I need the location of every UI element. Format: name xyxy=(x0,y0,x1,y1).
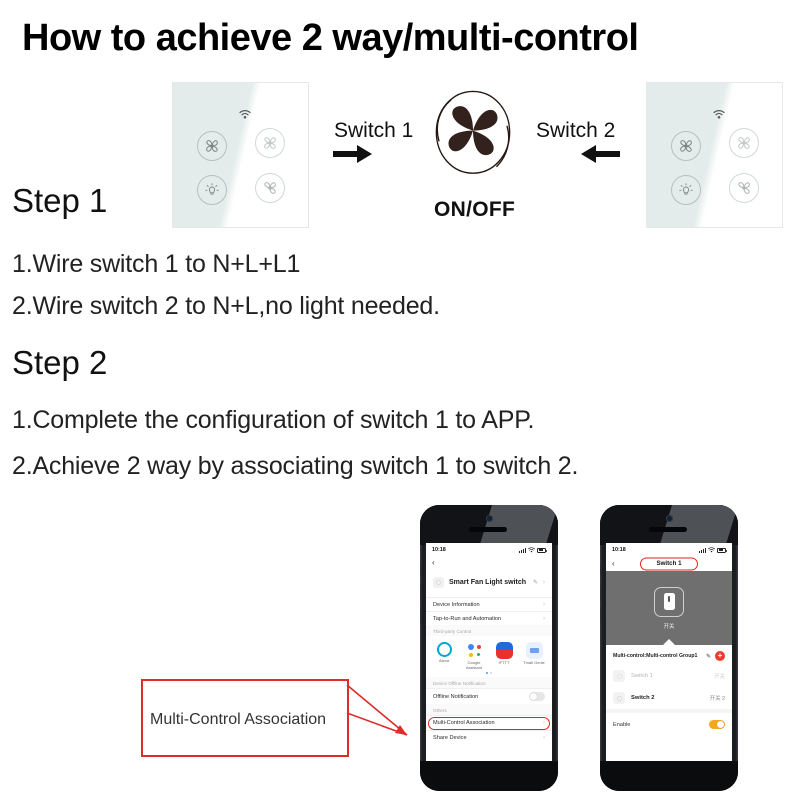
switch-glyph-icon xyxy=(435,579,442,586)
panel-glass-sheen xyxy=(647,83,782,227)
phone-top-bezel xyxy=(420,505,558,545)
instruction-graphic: How to achieve 2 way/multi-control xyxy=(0,0,800,800)
third-party-label: Google Assistant xyxy=(462,661,486,670)
step1-heading: Step 1 xyxy=(12,182,107,220)
panel-notch xyxy=(662,639,676,646)
step1-line-2: 2.Wire switch 2 to N+L,no light needed. xyxy=(12,292,440,321)
device-thumbnail-icon xyxy=(613,692,625,704)
ifttt-icon xyxy=(496,642,513,659)
multi-control-header: Multi-control:Multi-control Group1 ✎ + xyxy=(606,645,732,665)
red-highlight-oval xyxy=(640,557,698,570)
row-value: 开关 xyxy=(714,672,725,680)
panel-button-light[interactable] xyxy=(671,175,701,205)
device-caption: 开关 xyxy=(664,622,675,630)
tmall-genie-icon xyxy=(526,642,543,659)
third-party-alexa[interactable]: Alexa xyxy=(432,642,456,670)
enable-row[interactable]: Enable xyxy=(606,709,732,736)
device-switch-icon[interactable] xyxy=(654,587,684,617)
offline-notification-toggle[interactable] xyxy=(529,692,545,701)
row-label: Offline Notification xyxy=(433,694,529,700)
arrow-right-icon xyxy=(333,143,373,165)
fan-icon xyxy=(260,178,280,198)
phone-mockup-1: 10:18 ‹ xyxy=(420,505,558,791)
phone-bottom-bezel xyxy=(600,761,738,791)
row-tap-to-run[interactable]: Tap-to-Run and Automation › xyxy=(426,611,552,625)
volume-down-button[interactable] xyxy=(420,607,421,623)
switch-glyph-icon xyxy=(616,673,623,680)
pencil-icon[interactable]: ✎ xyxy=(706,653,711,660)
wifi-icon xyxy=(528,547,535,553)
fan-icon xyxy=(260,133,280,153)
wall-switch-panel-left xyxy=(172,82,309,228)
mute-button[interactable] xyxy=(600,565,601,575)
device-name: Smart Fan Light switch xyxy=(449,579,528,586)
row-multi-control-association[interactable]: Multi-Control Association › xyxy=(426,715,552,730)
fan-icon xyxy=(676,136,696,156)
row-label: Tap-to-Run and Automation xyxy=(433,616,543,622)
third-party-label: Alexa xyxy=(432,659,456,664)
phone2-screen: 10:18 ‹ Switch 1 xyxy=(606,543,732,761)
phone-bottom-bezel xyxy=(420,761,558,791)
wifi-icon xyxy=(713,110,725,119)
page-title: How to achieve 2 way/multi-control xyxy=(22,17,638,60)
row-offline-notification[interactable]: Offline Notification xyxy=(426,688,552,704)
bulb-icon xyxy=(677,181,695,199)
switch1-label: Switch 1 xyxy=(334,119,413,143)
others-header: Others xyxy=(426,704,552,715)
wifi-icon xyxy=(708,547,715,553)
panel-button-fan-3[interactable] xyxy=(729,173,759,203)
switch-glyph-icon xyxy=(616,695,623,702)
row-label: Multi-Control Association xyxy=(433,720,543,726)
pencil-icon[interactable]: ✎ xyxy=(533,579,538,586)
page-dot xyxy=(490,672,492,674)
battery-icon xyxy=(537,548,546,553)
status-icons xyxy=(519,547,546,553)
battery-icon xyxy=(717,548,726,553)
status-time: 10:18 xyxy=(432,547,446,553)
row-name: Switch 1 xyxy=(631,673,714,679)
panel-button-light[interactable] xyxy=(197,175,227,205)
row-share-device[interactable]: Share Device › xyxy=(426,730,552,744)
step2-line-1: 1.Complete the configuration of switch 1… xyxy=(12,406,534,435)
speaker-grille xyxy=(469,527,507,532)
enable-label: Enable xyxy=(613,722,709,728)
device-thumbnail-icon xyxy=(613,670,625,682)
plus-icon[interactable]: + xyxy=(715,651,725,661)
multi-control-row-switch1[interactable]: Switch 1 开关 xyxy=(606,665,732,687)
callout-label: Multi-Control Association xyxy=(150,711,326,729)
camera-icon xyxy=(666,515,673,522)
offline-header: Device Offline Notification xyxy=(426,677,552,688)
wifi-icon xyxy=(239,110,251,119)
row-device-information[interactable]: Device Information › xyxy=(426,597,552,611)
step1-line-1: 1.Wire switch 1 to N+L+L1 xyxy=(12,250,300,279)
third-party-grid: Alexa Google Assistant IFTTT xyxy=(426,636,552,672)
camera-icon xyxy=(486,515,493,522)
step2-heading: Step 2 xyxy=(12,344,107,382)
google-assistant-icon xyxy=(466,642,483,659)
third-party-label: Tmall Genie xyxy=(522,661,546,666)
third-party-google-assistant[interactable]: Google Assistant xyxy=(462,642,486,670)
fan-icon xyxy=(734,178,754,198)
status-bar: 10:18 xyxy=(606,543,732,556)
enable-toggle[interactable] xyxy=(709,720,725,729)
nav-bar: ‹ Switch 1 xyxy=(606,556,732,571)
panel-button-fan-2[interactable] xyxy=(729,128,759,158)
volume-up-button[interactable] xyxy=(420,585,421,601)
fan-icon xyxy=(202,136,222,156)
panel-glass-sheen xyxy=(173,83,308,227)
device-preview-panel: 开关 xyxy=(606,571,732,645)
chevron-right-icon: › xyxy=(543,602,545,608)
device-header-row[interactable]: Smart Fan Light switch ✎ › xyxy=(426,569,552,597)
mute-button[interactable] xyxy=(420,565,421,575)
multi-control-row-switch2[interactable]: Switch 2 开关 2 xyxy=(606,687,732,709)
panel-button-fan-1[interactable] xyxy=(671,131,701,161)
onoff-label: ON/OFF xyxy=(434,198,515,222)
callout-arrow-icon xyxy=(345,683,413,743)
chevron-right-icon: › xyxy=(543,616,545,622)
row-value: 开关 2 xyxy=(710,694,725,702)
chevron-left-icon[interactable]: ‹ xyxy=(432,559,435,567)
phone-top-bezel xyxy=(600,505,738,545)
panel-button-fan-2[interactable] xyxy=(255,128,285,158)
chevron-right-icon: › xyxy=(543,735,545,741)
switch-face xyxy=(664,593,675,610)
panel-button-fan-3[interactable] xyxy=(255,173,285,203)
device-thumbnail-icon xyxy=(433,577,444,588)
switch2-label: Switch 2 xyxy=(536,119,615,143)
volume-up-button[interactable] xyxy=(600,585,601,601)
status-time: 10:18 xyxy=(612,547,626,553)
panel-button-fan-1[interactable] xyxy=(197,131,227,161)
third-party-ifttt[interactable]: IFTTT xyxy=(492,642,516,670)
alexa-icon xyxy=(437,642,452,657)
signal-bars-icon xyxy=(699,548,706,553)
volume-down-button[interactable] xyxy=(600,607,601,623)
status-bar: 10:18 xyxy=(426,543,552,556)
row-label: Device Information xyxy=(433,602,543,608)
phone1-screen: 10:18 ‹ xyxy=(426,543,552,761)
nav-bar: ‹ xyxy=(426,556,552,569)
third-party-tmall-genie[interactable]: Tmall Genie xyxy=(522,642,546,670)
third-party-header: Third-party Control xyxy=(426,625,552,636)
signal-bars-icon xyxy=(519,548,526,553)
phone-mockup-2: 10:18 ‹ Switch 1 xyxy=(600,505,738,791)
bulb-icon xyxy=(203,181,221,199)
fan-logo-icon xyxy=(430,88,516,180)
wall-switch-panel-right xyxy=(646,82,783,228)
chevron-right-icon: › xyxy=(543,580,545,586)
speaker-grille xyxy=(649,527,687,532)
step2-line-2: 2.Achieve 2 way by associating switch 1 … xyxy=(12,452,578,481)
arrow-left-icon xyxy=(580,143,620,165)
chevron-right-icon: › xyxy=(543,720,545,726)
status-icons xyxy=(699,547,726,553)
multi-control-title: Multi-control:Multi-control Group1 xyxy=(613,653,706,659)
row-name: Switch 2 xyxy=(631,695,710,701)
fan-icon xyxy=(734,133,754,153)
third-party-label: IFTTT xyxy=(492,661,516,666)
page-dot-active xyxy=(486,672,488,674)
row-label: Share Device xyxy=(433,735,543,741)
